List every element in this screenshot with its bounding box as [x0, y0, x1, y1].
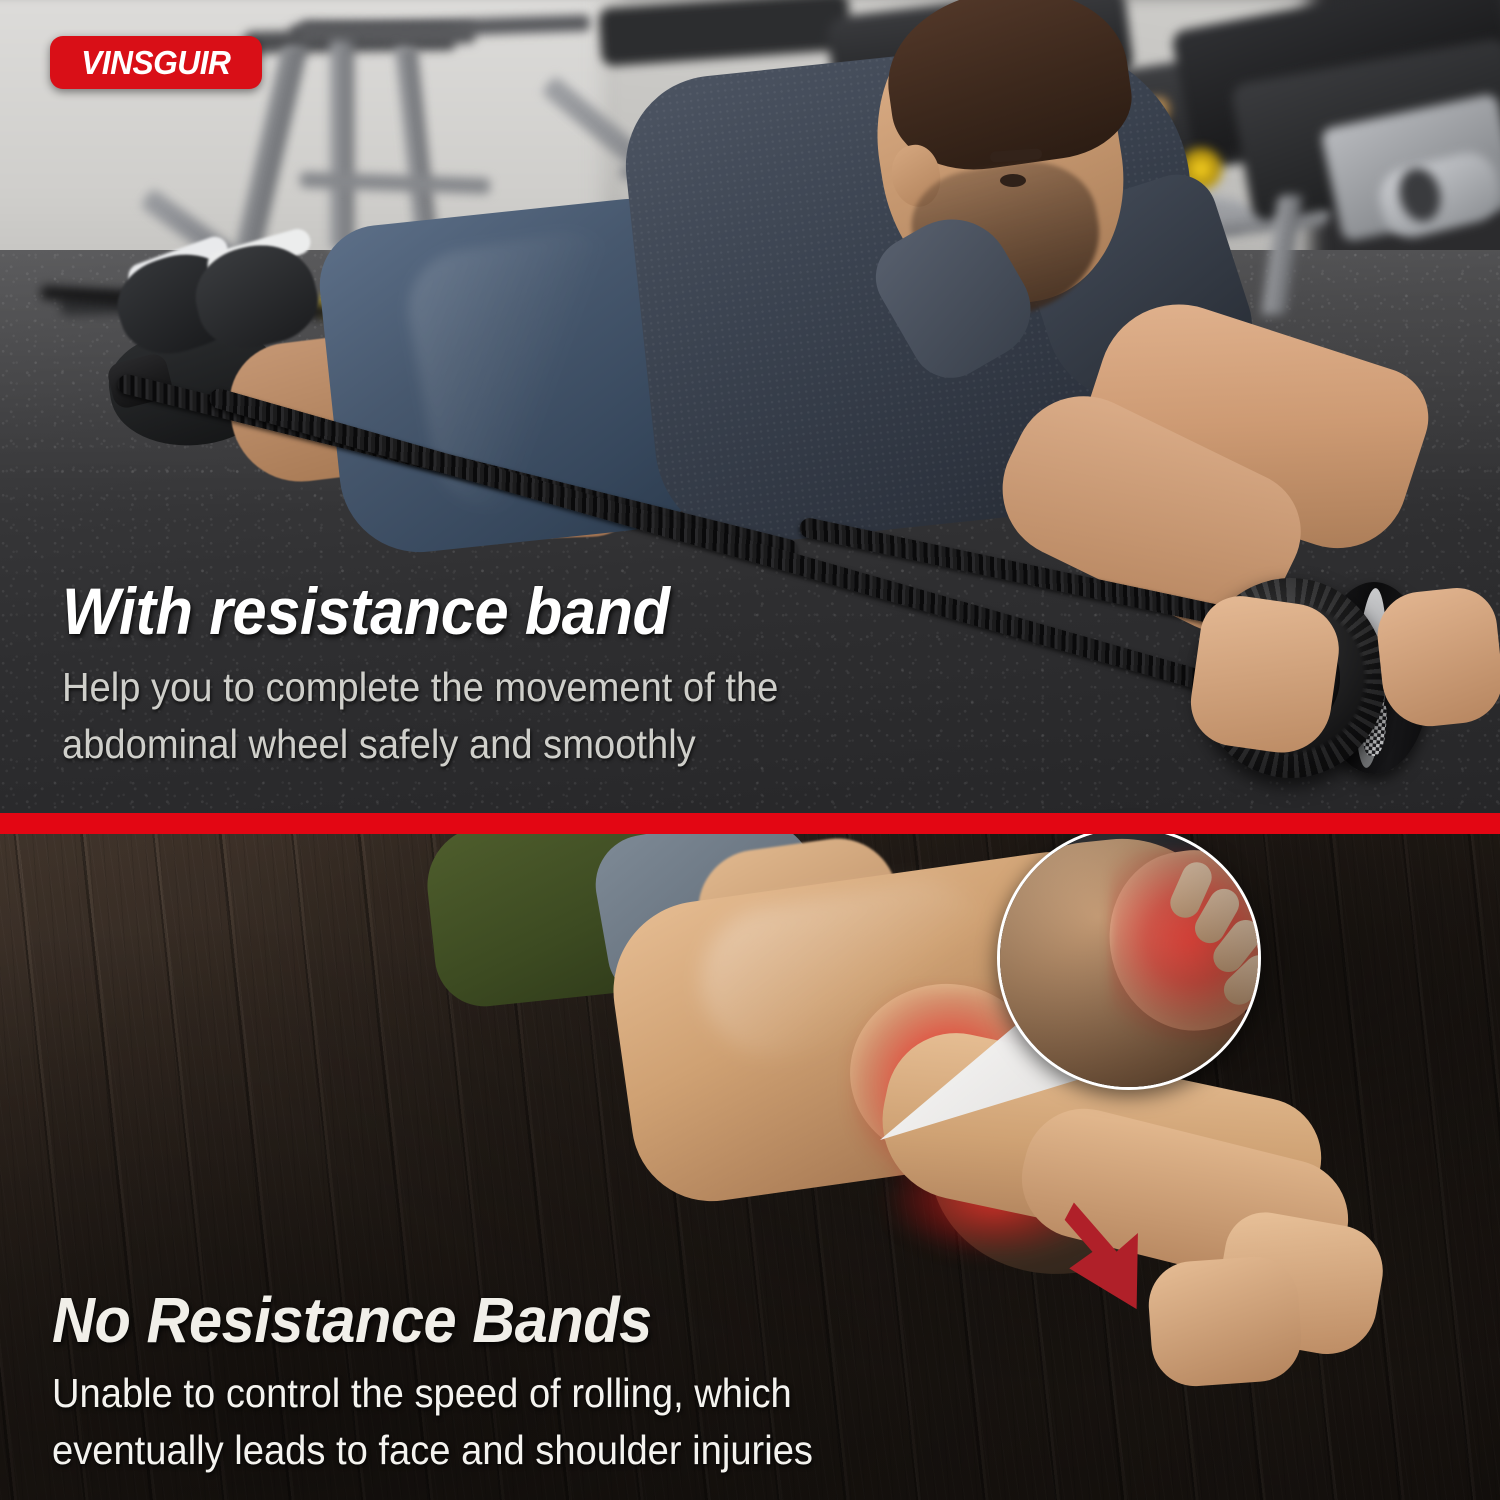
bottom-body-text: Unable to control the speed of rolling, …	[52, 1365, 982, 1478]
top-body-line-1: Help you to complete the movement of the	[62, 659, 918, 716]
athlete-eye	[1000, 174, 1026, 187]
brand-logo-badge: VINSGUIR	[50, 36, 262, 89]
panel-with-resistance-band: VINSGUIR With resistance band Help you t…	[0, 0, 1500, 813]
gym-machine-bar	[300, 20, 475, 43]
top-body-text: Help you to complete the movement of the…	[62, 659, 918, 772]
shoulder-pain-closeup-inset	[997, 826, 1261, 1090]
brand-logo-text: VINSGUIR	[81, 44, 230, 82]
bottom-headline: No Resistance Bands	[52, 1288, 982, 1353]
bottom-panel-text-block: No Resistance Bands Unable to control th…	[52, 1288, 1052, 1478]
product-infographic: VINSGUIR With resistance band Help you t…	[0, 0, 1500, 1500]
inset-vignette	[1000, 829, 1258, 1087]
top-body-line-2: abdominal wheel safely and smoothly	[62, 716, 918, 773]
top-panel-text-block: With resistance band Help you to complet…	[62, 578, 982, 772]
gym-machine-leg	[330, 40, 354, 250]
top-headline: With resistance band	[62, 578, 918, 645]
athlete-shorts-highlight	[399, 223, 661, 517]
bottom-body-line-1: Unable to control the speed of rolling, …	[52, 1365, 982, 1422]
bottom-body-line-2: eventually leads to face and shoulder in…	[52, 1422, 982, 1479]
athlete-fist-grip	[1373, 584, 1500, 731]
red-divider-bar	[0, 813, 1500, 834]
down-right-arrow-icon	[1062, 1200, 1182, 1320]
